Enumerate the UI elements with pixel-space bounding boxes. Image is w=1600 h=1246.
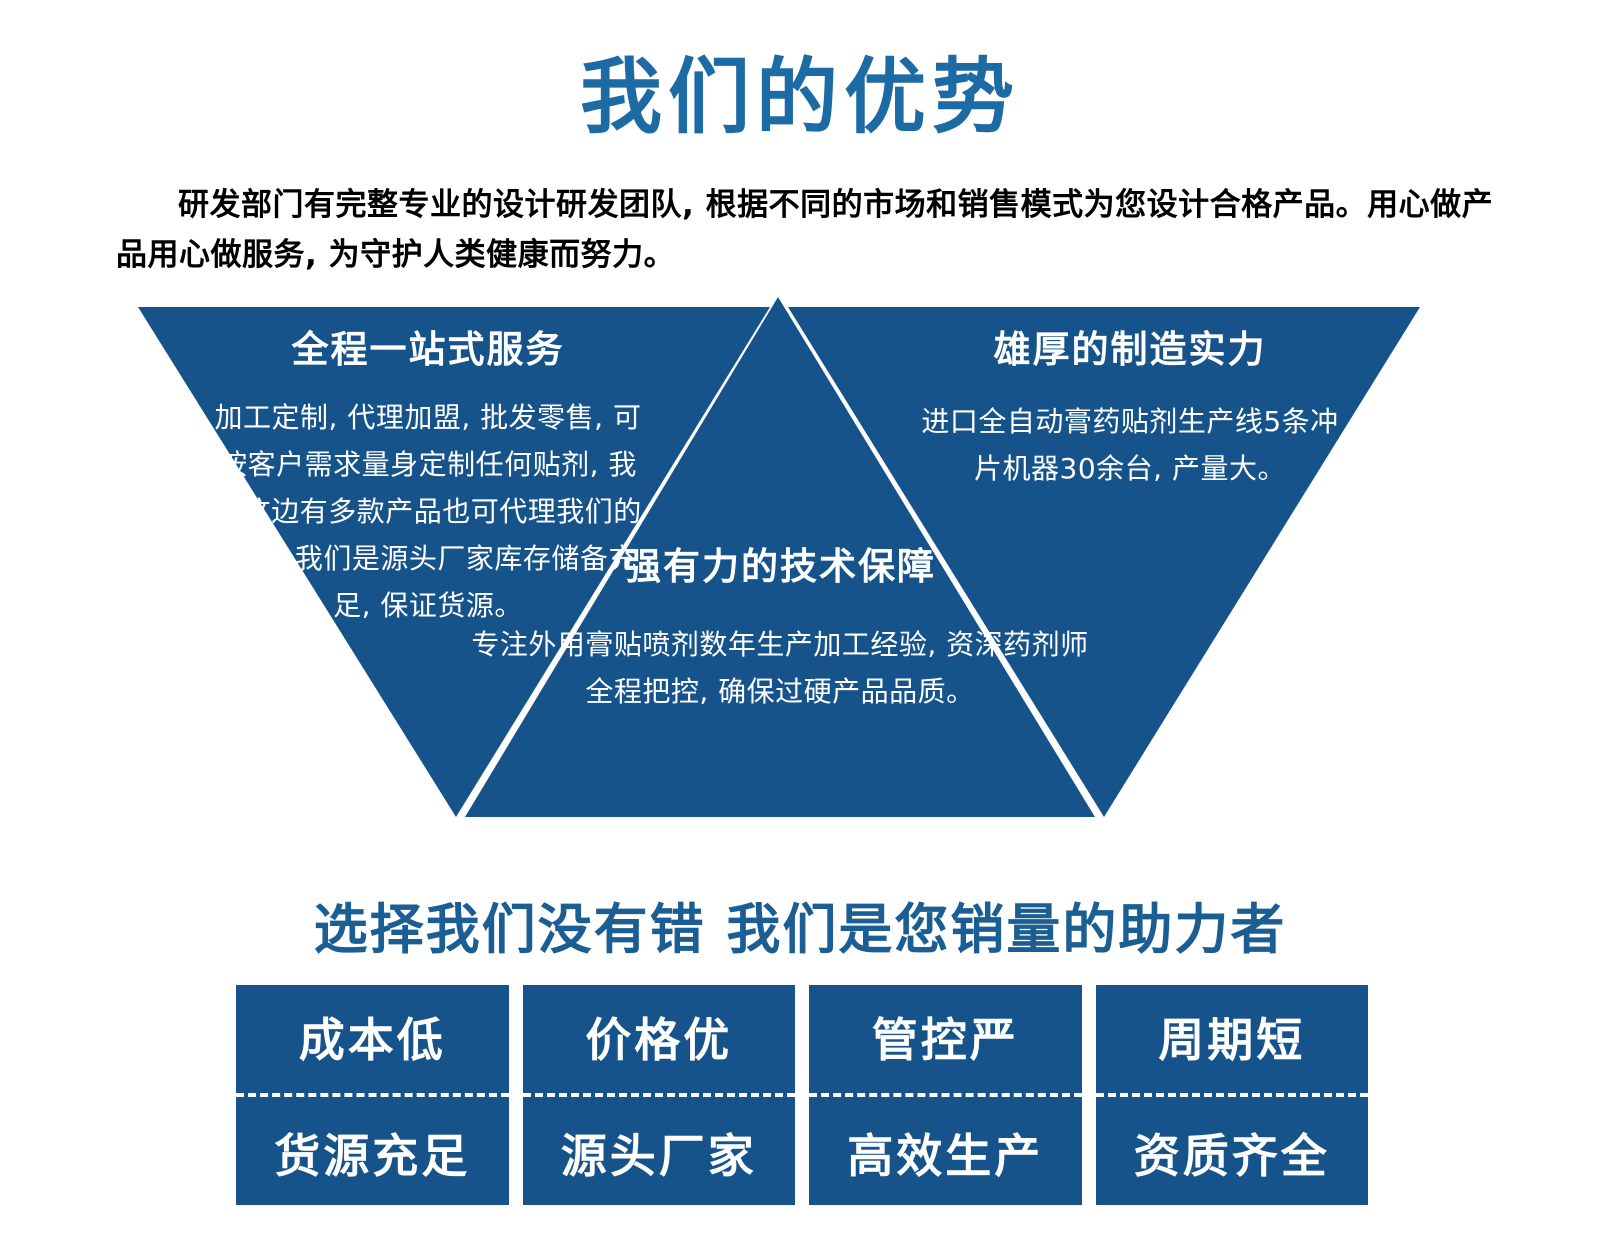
advantage-box-cost: 成本低 货源充足 <box>236 985 509 1205</box>
advantage-box-row: 成本低 货源充足 价格优 源头厂家 管控严 高效生产 周期短 资质齐全 <box>236 985 1368 1205</box>
triangle-left-heading: 全程一站式服务 <box>208 328 648 372</box>
advantage-box-leadtime-bottom: 资质齐全 <box>1096 1097 1369 1205</box>
advantage-box-control-bottom: 高效生产 <box>809 1097 1082 1205</box>
advantage-box-cost-top: 成本低 <box>236 985 509 1093</box>
triangle-middle-content: 强有力的技术保障 专注外用膏贴喷剂数年生产加工经验, 资深药剂师全程把控, 确保… <box>470 545 1090 715</box>
advantage-box-leadtime: 周期短 资质齐全 <box>1096 985 1369 1205</box>
advantages-triangle-diagram: 全程一站式服务 加工定制, 代理加盟, 批发零售, 可按客户需求量身定制任何贴剂… <box>120 290 1440 825</box>
triangle-right-body: 进口全自动膏药贴剂生产线5条冲片机器30余台, 产量大。 <box>910 398 1350 492</box>
advantage-box-leadtime-top: 周期短 <box>1096 985 1369 1093</box>
bottom-heading: 选择我们没有错 我们是您销量的助力者 <box>0 885 1600 964</box>
advantage-box-control-top: 管控严 <box>809 985 1082 1093</box>
triangle-right-heading: 雄厚的制造实力 <box>910 328 1350 372</box>
advantage-box-cost-bottom: 货源充足 <box>236 1097 509 1205</box>
advantage-box-price-top: 价格优 <box>523 985 796 1093</box>
triangle-right-content: 雄厚的制造实力 进口全自动膏药贴剂生产线5条冲片机器30余台, 产量大。 <box>910 328 1350 492</box>
triangle-middle-heading: 强有力的技术保障 <box>470 545 1090 589</box>
triangle-middle-body: 专注外用膏贴喷剂数年生产加工经验, 资深药剂师全程把控, 确保过硬产品品质。 <box>470 621 1090 715</box>
page-title: 我们的优势 <box>0 55 1600 141</box>
advantage-box-price-bottom: 源头厂家 <box>523 1097 796 1205</box>
intro-paragraph: 研发部门有完整专业的设计研发团队, 根据不同的市场和销售模式为您设计合格产品。用… <box>116 180 1516 280</box>
advantage-box-control: 管控严 高效生产 <box>809 985 1082 1205</box>
advantage-box-price: 价格优 源头厂家 <box>523 985 796 1205</box>
